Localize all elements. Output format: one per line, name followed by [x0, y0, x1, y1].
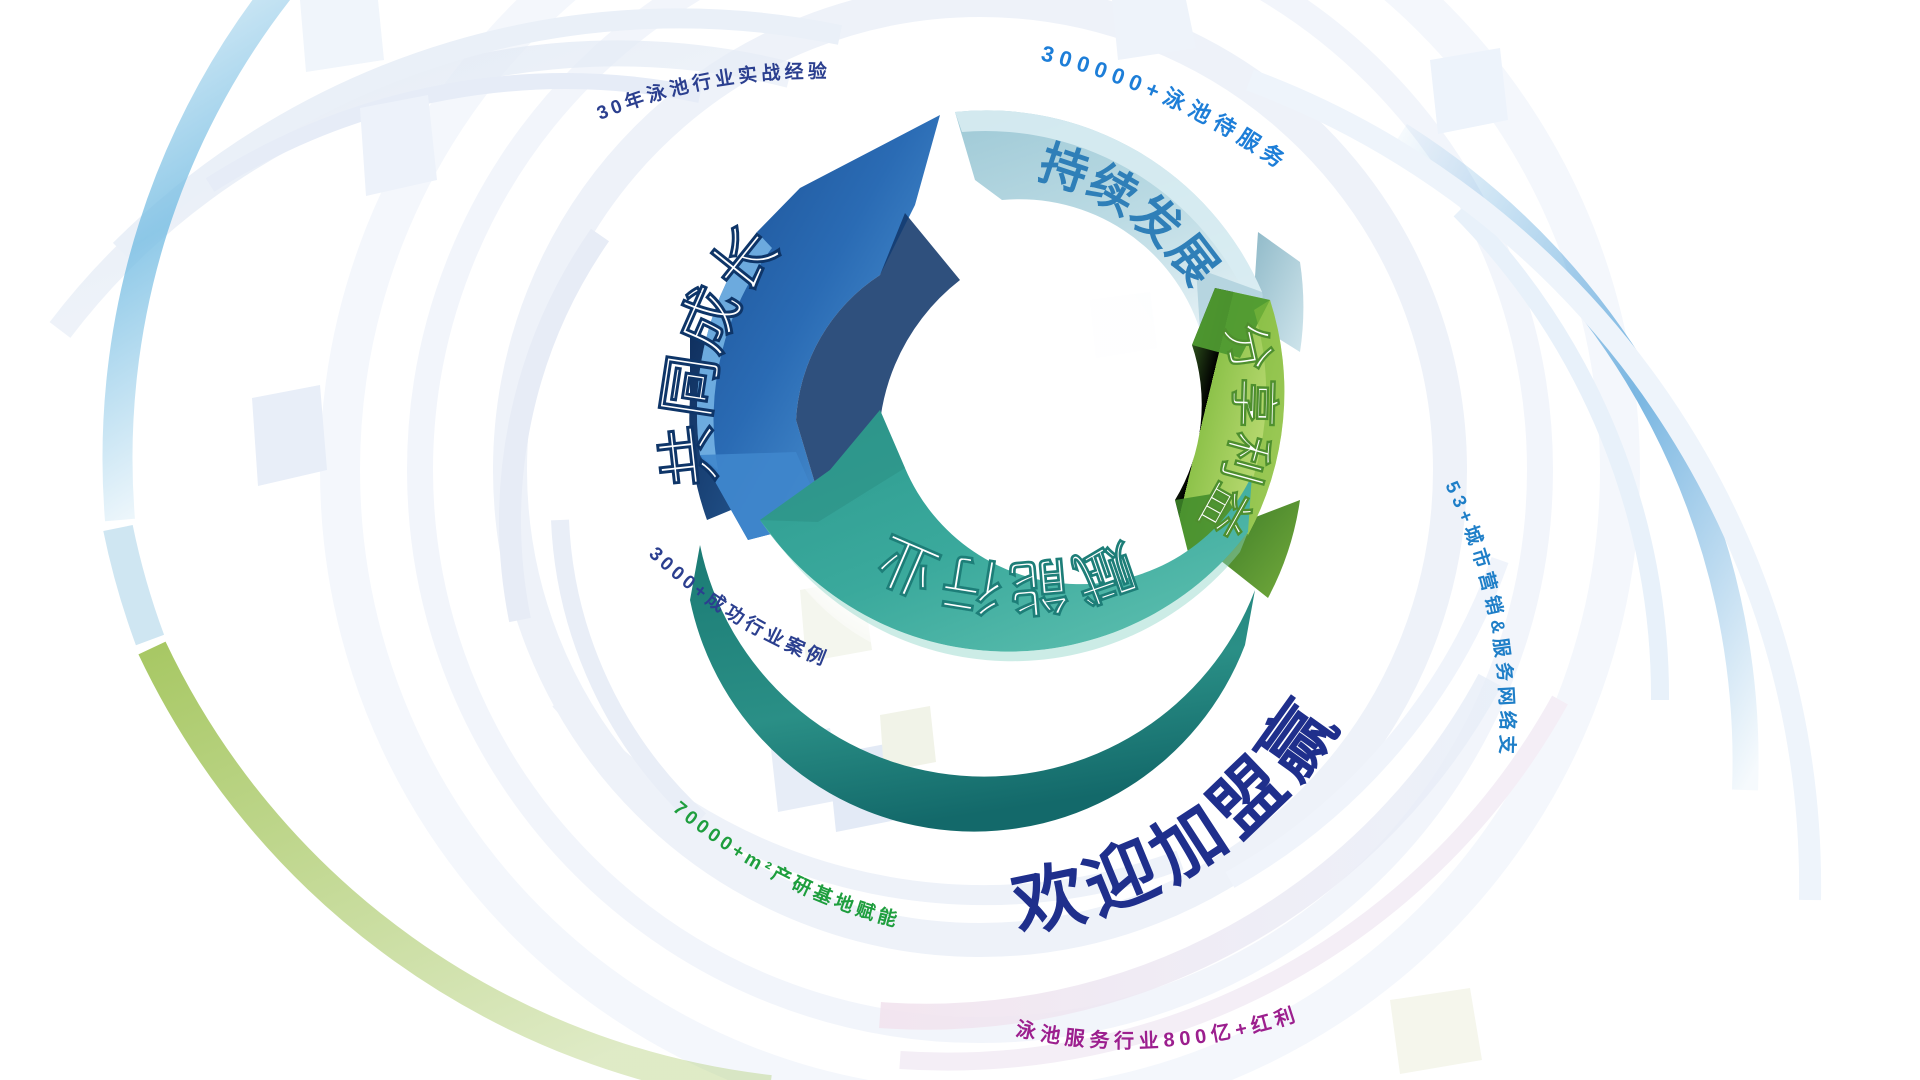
- poster-canvas: 共同成长 持续发展 分享利益 赋能行业 30年泳池行业实战经验: [0, 0, 1920, 1080]
- cycle-diagram-artwork: 共同成长 持续发展 分享利益 赋能行业 30年泳池行业实战经验: [0, 0, 1920, 1080]
